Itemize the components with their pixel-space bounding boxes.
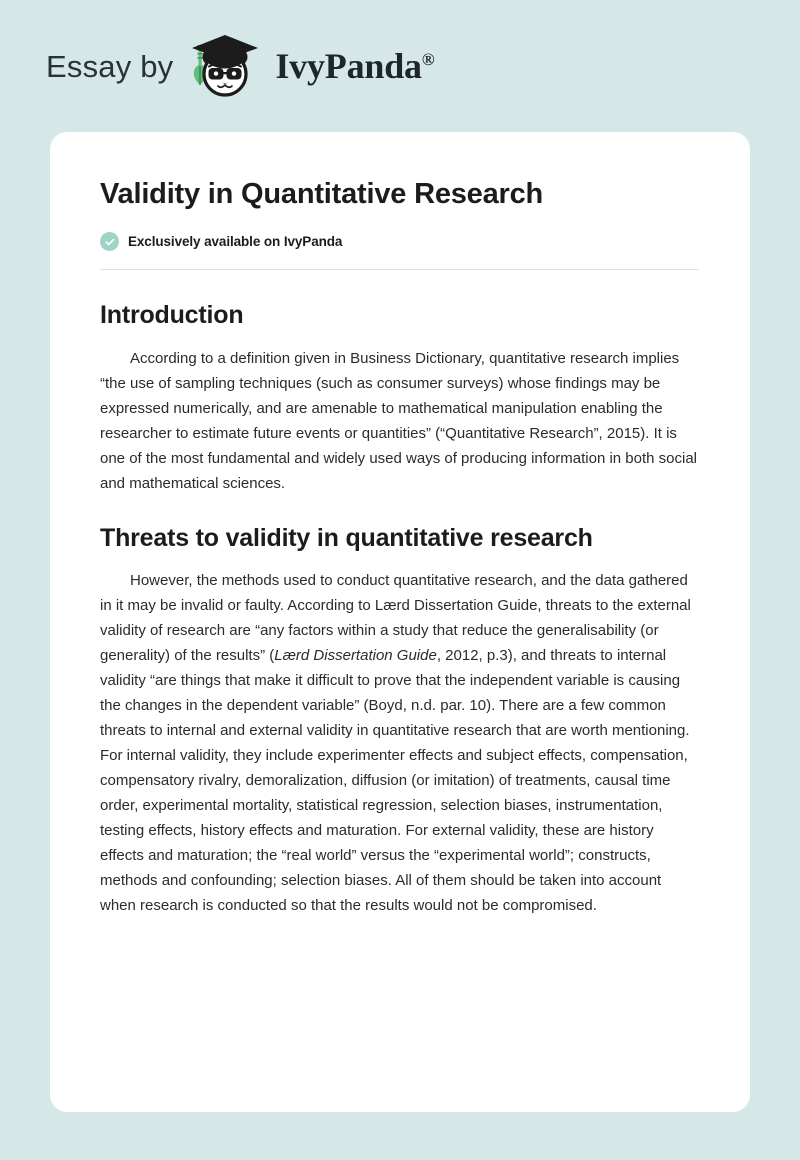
brand-lockup[interactable]: Essay by <box>46 33 434 99</box>
status-badge: Exclusively available on IvyPanda <box>74 232 723 251</box>
check-circle-icon <box>100 232 119 251</box>
registered-trademark-symbol: ® <box>422 50 435 69</box>
wordmark-text: IvyPanda <box>275 46 421 86</box>
paragraph-text: , 2012, p.3), and threats to internal va… <box>100 647 690 914</box>
paragraph-text: According to a definition given in Busin… <box>100 350 697 492</box>
essay-body: IntroductionAccording to a definition gi… <box>74 299 723 918</box>
site-header: Essay by <box>0 0 800 132</box>
citation-title-italic: Lærd Dissertation Guide <box>274 647 437 664</box>
section-heading: Threats to validity in quantitative rese… <box>74 522 723 555</box>
header-divider <box>100 269 699 270</box>
panda-graduate-logo-icon <box>187 33 261 99</box>
essay-card: Validity in Quantitative Research Exclus… <box>50 132 750 1112</box>
essay-by-label: Essay by <box>46 51 173 82</box>
body-paragraph: According to a definition given in Busin… <box>74 346 723 496</box>
status-badge-label: Exclusively available on IvyPanda <box>128 234 342 249</box>
ivypanda-wordmark: IvyPanda® <box>275 48 434 84</box>
card-inner: Validity in Quantitative Research Exclus… <box>74 176 723 918</box>
section-heading: Introduction <box>74 299 723 332</box>
body-paragraph: However, the methods used to conduct qua… <box>74 568 723 918</box>
page-title: Validity in Quantitative Research <box>74 176 723 212</box>
